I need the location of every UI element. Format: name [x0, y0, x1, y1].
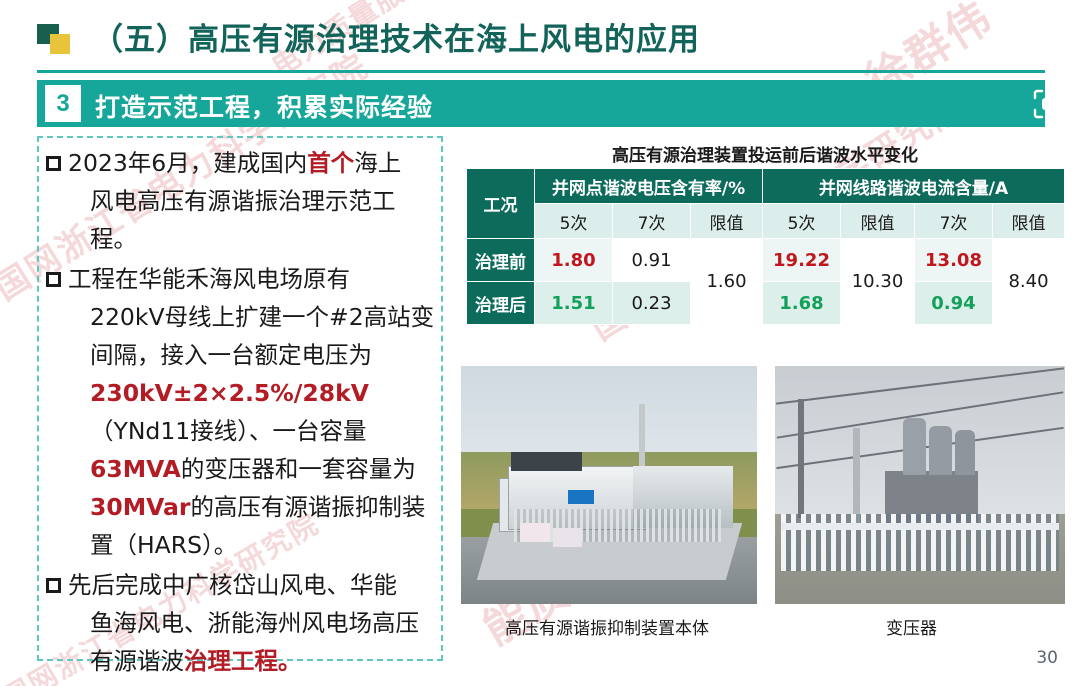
table-subheader-i5limit: 限值 — [841, 204, 915, 239]
bullet-item: 先后完成中广核岱山风电、华能鱼海风电、浙能海州风电场高压有源谐波治理工程。 — [46, 566, 438, 680]
bullet-run: 工程在华能禾海风电场原有 — [68, 265, 350, 293]
table-title: 高压有源治理装置投运前后谐波水平变化 — [460, 141, 1070, 166]
bullet-run-emphasis: 30MVar — [90, 493, 190, 521]
photo-caption-device-body: 高压有源谐振抑制装置本体 — [505, 614, 709, 639]
bullet-square-icon — [46, 578, 61, 593]
photo-device-body — [461, 366, 757, 604]
cell-limit-current-5: 10.30 — [841, 239, 915, 325]
bullet-run-emphasis: 230kV±2×2.5%/28kV — [90, 379, 369, 407]
bullet-list: 2023年6月，建成国内首个海上风电高压有源谐振治理示范工程。工程在华能禾海风电… — [46, 144, 438, 682]
bullet-run-emphasis: 首个 — [307, 149, 354, 177]
photo-transformer — [775, 366, 1065, 604]
bullet-run: 海上 — [354, 149, 401, 177]
cell-limit-voltage: 1.60 — [691, 239, 763, 325]
bullet-run: 置（HARS）。 — [90, 531, 237, 559]
bullet-line: 间隔，接入一台额定电压为 — [90, 336, 438, 374]
scan-frame-icon[interactable] — [1032, 88, 1064, 120]
bullet-line: 风电高压有源谐振治理示范工程。 — [90, 182, 438, 258]
bullet-text: 先后完成中广核岱山风电、华能鱼海风电、浙能海州风电场高压有源谐波治理工程。 — [68, 566, 438, 680]
bullet-line: 有源谐波治理工程。 — [90, 642, 438, 680]
cell-before-v5: 1.80 — [551, 250, 595, 271]
bullet-line: 220kV母线上扩建一个#2高站变 — [90, 298, 438, 336]
bullet-run: 鱼海风电、浙能海州风电场高压 — [90, 609, 419, 637]
page-title: （五）高压有源治理技术在海上风电的应用 — [92, 14, 700, 59]
cell-after-v7: 0.23 — [631, 293, 671, 314]
bullet-item: 2023年6月，建成国内首个海上风电高压有源谐振治理示范工程。 — [46, 144, 438, 258]
table-row-label-after: 治理后 — [467, 282, 535, 325]
bullet-run: 间隔，接入一台额定电压为 — [90, 341, 372, 369]
bullet-square-icon — [46, 156, 61, 171]
bullet-line: 鱼海风电、浙能海州风电场高压 — [90, 604, 438, 642]
harmonics-table: 工况 并网点谐波电压含有率/% 并网线路谐波电流含量/A 5次 7次 限值 5次… — [466, 168, 1065, 325]
cell-after-i7: 0.94 — [931, 293, 975, 314]
bullet-run: 先后完成中广核岱山风电、华能 — [68, 571, 397, 599]
bullet-run-emphasis: 63MVA — [90, 455, 181, 483]
table-subheader-vlimit: 限值 — [691, 204, 763, 239]
section-number-badge: 3 — [45, 85, 81, 122]
bullet-run: 有源谐波 — [90, 647, 184, 675]
cell-before-i7: 13.08 — [925, 250, 982, 271]
cell-after-i5: 1.68 — [779, 293, 823, 314]
bullet-item: 工程在华能禾海风电场原有220kV母线上扩建一个#2高站变间隔，接入一台额定电压… — [46, 260, 438, 564]
table-subheader-v7: 7次 — [613, 204, 691, 239]
table-subheader-v5: 5次 — [535, 204, 613, 239]
bullet-line: （YNd11接线）、一台容量 — [90, 412, 438, 450]
title-divider — [37, 70, 1045, 73]
cell-after-v5: 1.51 — [551, 293, 595, 314]
bullet-line: 2023年6月，建成国内首个海上 — [68, 144, 438, 182]
cell-before-v7: 0.91 — [631, 250, 671, 271]
table-subheader-i7limit: 限值 — [993, 204, 1065, 239]
table-header-voltage-group: 并网点谐波电压含有率/% — [535, 169, 763, 204]
bullet-line: 工程在华能禾海风电场原有 — [68, 260, 438, 298]
bullet-run: 的变压器和一套容量为 — [181, 455, 416, 483]
table-row: 治理前 1.80 0.91 1.60 19.22 10.30 13.08 8.4… — [467, 239, 1065, 282]
table-header-current-group: 并网线路谐波电流含量/A — [763, 169, 1065, 204]
table-row-label-before: 治理前 — [467, 239, 535, 282]
bullet-text: 2023年6月，建成国内首个海上风电高压有源谐振治理示范工程。 — [68, 144, 438, 258]
bullet-text: 工程在华能禾海风电场原有220kV母线上扩建一个#2高站变间隔，接入一台额定电压… — [68, 260, 438, 564]
table-group-header-row: 工况 并网点谐波电压含有率/% 并网线路谐波电流含量/A — [467, 169, 1065, 204]
bullet-run: 2023年6月，建成国内 — [68, 149, 307, 177]
bullet-run: 风电高压有源谐振治理示范工程。 — [90, 187, 396, 253]
table-header-condition: 工况 — [467, 169, 535, 239]
bullet-line: 63MVA的变压器和一套容量为 — [90, 450, 438, 488]
slide-root: 徐群伟 国网浙江省电力科学研究院 国网浙江省电力科学研究院 能质量服务 电力质量… — [0, 0, 1080, 686]
bullet-square-icon — [46, 272, 61, 287]
table-sub-header-row: 5次 7次 限值 5次 限值 7次 限值 — [467, 204, 1065, 239]
bullet-line: 30MVar的高压有源谐振抑制装 — [90, 488, 438, 526]
photo-caption-transformer: 变压器 — [886, 614, 937, 639]
bullet-run-emphasis: 治理工程。 — [184, 647, 302, 675]
section-header-label: 打造示范工程，积累实际经验 — [95, 88, 433, 124]
cell-limit-current-7: 8.40 — [993, 239, 1065, 325]
bullet-run: 220kV母线上扩建一个#2高站变 — [90, 303, 434, 331]
bullet-run: 的高压有源谐振抑制装 — [190, 493, 425, 521]
bullet-run: （YNd11接线）、一台容量 — [90, 417, 367, 445]
table-subheader-i7: 7次 — [915, 204, 993, 239]
table-row: 治理后 1.51 0.23 1.68 0.94 — [467, 282, 1065, 325]
bullet-line: 先后完成中广核岱山风电、华能 — [68, 566, 438, 604]
table-subheader-i5: 5次 — [763, 204, 841, 239]
bullet-line: 230kV±2×2.5%/28kV — [90, 374, 438, 412]
page-number: 30 — [1036, 648, 1058, 668]
brand-logo-icon — [37, 24, 71, 54]
cell-before-i5: 19.22 — [773, 250, 830, 271]
bullet-line: 置（HARS）。 — [90, 526, 438, 564]
